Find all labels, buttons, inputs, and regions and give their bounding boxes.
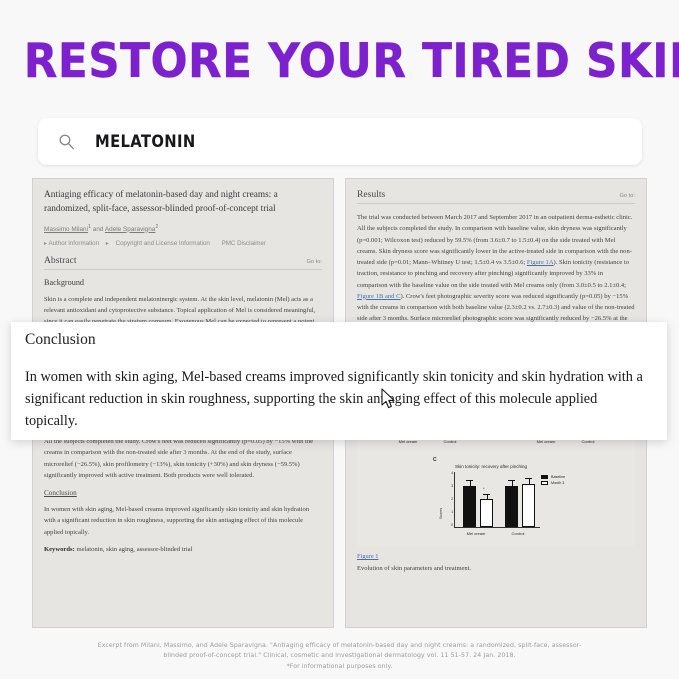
panel-c-errcap-1 <box>466 480 473 481</box>
article-authors: Massimo Milani1 and Adele Sparavigna2 <box>44 224 322 233</box>
panel-a-xtick-1: Mel cream <box>388 439 428 444</box>
panel-c-err-4 <box>529 478 530 484</box>
goto-link-results[interactable]: Go to: <box>620 193 636 199</box>
panel-b-xtick-1: Mel cream <box>526 439 566 444</box>
overlay-body-text: In women with skin aging, Mel-based crea… <box>25 366 653 432</box>
footer-citation: Excerpt from Milani, Massimo, and Adele … <box>10 640 669 671</box>
author-information-link[interactable]: Author information <box>48 240 99 247</box>
informational-note: *For informational purposes only. <box>97 661 581 671</box>
author-2[interactable]: Adele Sparavigna <box>105 226 155 233</box>
copyright-link[interactable]: Copyright and License Information <box>116 240 210 247</box>
conclusion-heading-left: Conclusion <box>44 489 322 497</box>
keywords-value: melatonin, skin aging, assessor-blinded … <box>76 546 192 553</box>
panel-c-errcap-2 <box>483 494 490 495</box>
panel-c-xtick-2: Control <box>498 531 538 536</box>
panel-c-bar-baseline-mel <box>463 486 476 527</box>
article-meta-links: ▸ Author information ▸ Copyright and Lic… <box>44 240 322 247</box>
meta-separator: ▸ <box>106 240 109 247</box>
search-input[interactable]: MELATONIN <box>95 132 196 152</box>
panel-c-title: Skin tonicity: recovery after pinching <box>455 464 527 469</box>
panel-c-errcap-4 <box>525 478 532 479</box>
promo-page: RESTORE YOUR TIRED SKIN: MELATONIN Antia… <box>0 0 679 679</box>
citation-text: Excerpt from Milani, Massimo, and Adele … <box>98 641 582 659</box>
search-bar[interactable]: MELATONIN <box>38 118 642 165</box>
legend-label-baseline-c: Baseline <box>551 475 565 479</box>
panel-b-xtick-2: Control <box>568 439 608 444</box>
figure-1-link[interactable]: Figure 1 <box>357 553 635 560</box>
panel-c-star-1: * <box>483 486 485 491</box>
author-1[interactable]: Massimo Milani <box>44 226 88 233</box>
panel-c-err-1 <box>470 480 471 486</box>
legend-swatch-month3-c <box>541 481 548 485</box>
authors-join: and <box>91 226 105 233</box>
panel-c-yticks: 0 1 2 3 4 <box>441 473 453 527</box>
results-paragraph-left: All the subjects completed the study. Cr… <box>44 436 322 481</box>
results-header-row: Results Go to: <box>357 189 635 204</box>
legend-swatch-baseline-c <box>541 475 548 479</box>
background-heading: Background <box>44 278 322 287</box>
panel-c-bar-month3-ctrl <box>522 484 535 527</box>
keywords-label: Keywords: <box>44 546 75 553</box>
panel-c-bar-month3-mel <box>480 499 493 527</box>
overlay-heading: Conclusion <box>25 331 653 349</box>
figure-1bc-link[interactable]: Figure 1B and C <box>357 293 400 300</box>
article-title: Antiaging efficacy of melatonin-based da… <box>44 189 322 217</box>
search-icon <box>58 133 75 150</box>
conclusion-paragraph-left: In women with skin aging, Mel-based crea… <box>44 504 322 538</box>
panel-c-err-3 <box>512 480 513 486</box>
panel-c-axes: * <box>454 472 540 528</box>
chart-panel-c: C Skin tonicity: recovery after pinching… <box>431 457 571 537</box>
legend-label-month3-c: Month 3 <box>551 481 564 485</box>
abstract-header-row: Abstract Go to: <box>44 255 322 270</box>
panel-a-xtick-2: Control <box>430 439 470 444</box>
pmc-disclaimer-link[interactable]: PMC Disclaimer <box>222 240 266 247</box>
figure-1-caption: Evolution of skin parameters and treatme… <box>357 565 635 572</box>
abstract-heading: Abstract <box>44 255 77 266</box>
panel-c-bar-baseline-ctrl <box>505 486 518 527</box>
figure-1a-link[interactable]: Figure 1A <box>527 259 554 266</box>
page-title: RESTORE YOUR TIRED SKIN: <box>24 38 655 85</box>
keywords-line: Keywords: melatonin, skin aging, assesso… <box>44 545 322 556</box>
goto-link-abstract[interactable]: Go to: <box>307 259 323 265</box>
conclusion-overlay-card: Conclusion In women with skin aging, Mel… <box>11 322 667 440</box>
panel-c-legend: Baseline Month 3 <box>541 475 565 487</box>
panel-c-letter: C <box>433 457 437 463</box>
panel-c-errcap-3 <box>508 480 515 481</box>
panel-c-xtick-1: Mel cream <box>456 531 496 536</box>
author-2-sup: 2 <box>155 224 158 230</box>
results-heading: Results <box>357 189 385 200</box>
panel-c-err-2 <box>487 494 488 499</box>
